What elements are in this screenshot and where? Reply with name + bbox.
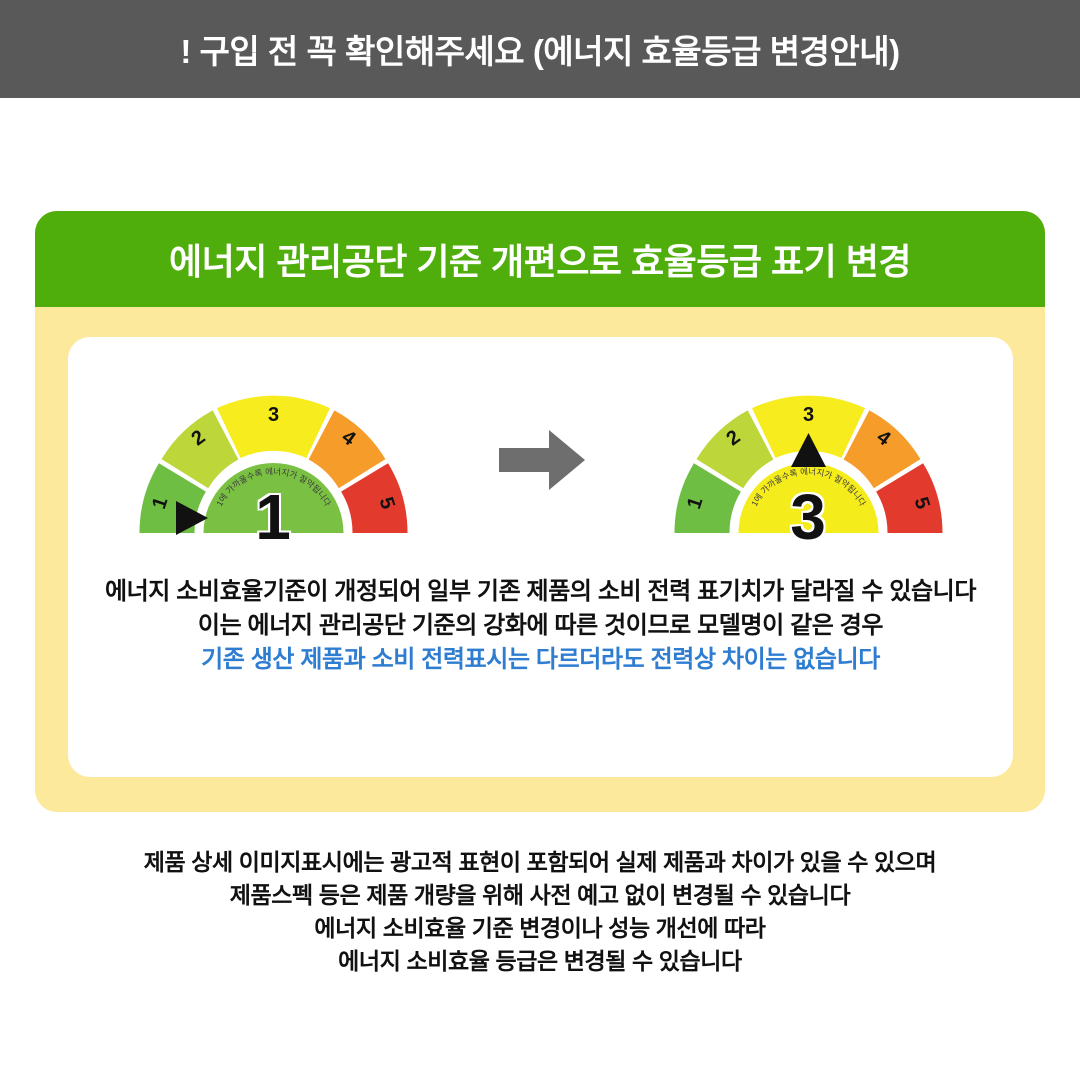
notice-card: 1 2 3 4 5 1에 가까울수록 에너지가 절약됩니다 xyxy=(68,337,1013,777)
gauge-after: 1 2 3 4 5 1에 가까울수록 에너지가 절약됩니다 xyxy=(667,375,950,545)
panel-banner: 에너지 관리공단 기준 개편으로 효율등급 표기 변경 xyxy=(35,211,1045,307)
footer-disclaimer-line-3: 에너지 소비효율 기준 변경이나 성능 개선에 따라 xyxy=(0,912,1080,945)
panel-banner-title: 에너지 관리공단 기준 개편으로 효율등급 표기 변경 xyxy=(169,233,911,285)
transition-arrow-icon xyxy=(493,424,589,496)
svg-text:3: 3 xyxy=(802,404,813,426)
card-explanation-line-3: 기존 생산 제품과 소비 전력표시는 다르더라도 전력상 차이는 없습니다 xyxy=(68,643,1013,677)
header-bar: ! 구입 전 꼭 확인해주세요 (에너지 효율등급 변경안내) xyxy=(0,0,1080,98)
footer-disclaimer-line-2: 제품스펙 등은 제품 개량을 위해 사전 예고 없이 변경될 수 있습니다 xyxy=(0,879,1080,912)
gauge-comparison: 1 2 3 4 5 1에 가까울수록 에너지가 절약됩니다 xyxy=(68,355,1013,565)
footer-disclaimer-line-1: 제품 상세 이미지표시에는 광고적 표현이 포함되어 실제 제품과 차이가 있을… xyxy=(0,846,1080,879)
card-explanation-line-1: 에너지 소비효율기준이 개정되어 일부 기존 제품의 소비 전력 표기치가 달라… xyxy=(68,575,1013,609)
svg-text:3: 3 xyxy=(267,404,278,426)
card-explanation-line-2: 이는 에너지 관리공단 기준의 강화에 따른 것이므로 모델명이 같은 경우 xyxy=(68,609,1013,643)
card-explanation: 에너지 소비효율기준이 개정되어 일부 기존 제품의 소비 전력 표기치가 달라… xyxy=(68,575,1013,677)
footer-disclaimer-line-4: 에너지 소비효율 등급은 변경될 수 있습니다 xyxy=(0,945,1080,978)
notice-panel: 에너지 관리공단 기준 개편으로 효율등급 표기 변경 xyxy=(35,211,1045,812)
gauge-before: 1 2 3 4 5 1에 가까울수록 에너지가 절약됩니다 xyxy=(132,375,415,545)
header-title: ! 구입 전 꼭 확인해주세요 (에너지 효율등급 변경안내) xyxy=(180,25,899,73)
footer-disclaimer: 제품 상세 이미지표시에는 광고적 표현이 포함되어 실제 제품과 차이가 있을… xyxy=(0,846,1080,978)
